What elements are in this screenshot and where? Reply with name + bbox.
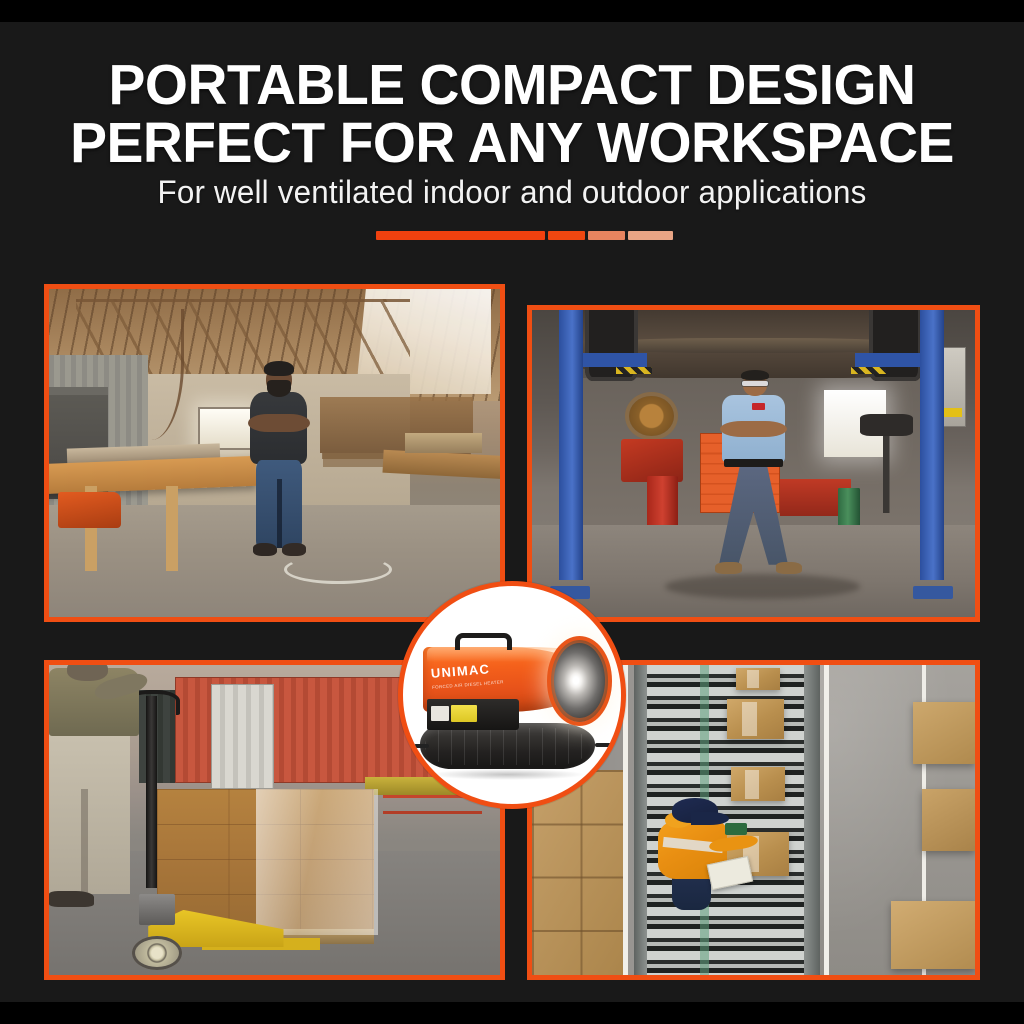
poster-stage: PORTABLE COMPACT DESIGN PERFECT FOR ANY …: [0, 22, 1024, 1002]
page-subtitle: For well ventilated indoor and outdoor a…: [10, 174, 1014, 210]
product-image-heater: UNIMAC FORCED AIR DIESEL HEATER: [403, 586, 621, 804]
heater-tank-ribs: [425, 728, 591, 765]
heater-spec-label: [431, 706, 448, 721]
photo-auto-shop: [527, 305, 980, 622]
product-shadow: [429, 769, 586, 780]
heater-carry-handle: [455, 633, 512, 650]
headline-line-2: PERFECT FOR ANY WORKSPACE: [15, 114, 1008, 172]
divider-segment-2: [548, 231, 585, 240]
divider-segment-4: [628, 231, 673, 240]
poster-canvas: PORTABLE COMPACT DESIGN PERFECT FOR ANY …: [0, 0, 1024, 1024]
product-circle-badge: UNIMAC FORCED AIR DIESEL HEATER: [398, 581, 626, 809]
heater-nozzle-ring: [547, 636, 612, 725]
headline-line-1: PORTABLE COMPACT DESIGN: [109, 53, 916, 117]
page-title: PORTABLE COMPACT DESIGN PERFECT FOR ANY …: [15, 56, 1008, 172]
heater-foot-left: [414, 744, 429, 748]
heater-warning-label: [451, 705, 477, 722]
heater-foot-right: [595, 743, 612, 747]
divider-segment-3: [588, 231, 625, 240]
photo-workshop: [44, 284, 505, 622]
divider-segment-1: [376, 231, 545, 240]
divider: [0, 231, 1024, 243]
